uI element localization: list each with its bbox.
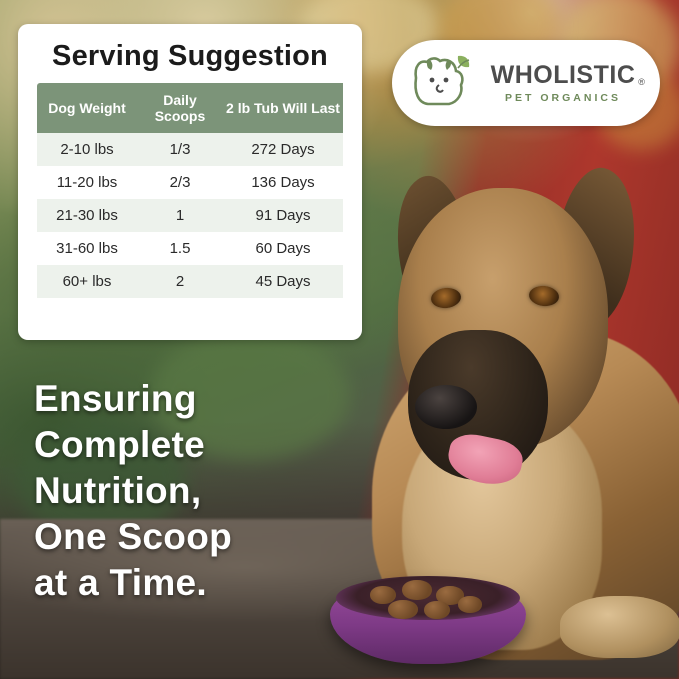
cell-tub-duration: 91 Days xyxy=(223,199,343,232)
dog-nose xyxy=(415,385,477,429)
tagline-line-2: Complete xyxy=(34,422,324,468)
brand-logo-card: WHOLISTIC® PET ORGANICS xyxy=(392,40,660,126)
table-row: 21-30 lbs 1 91 Days xyxy=(37,199,343,232)
column-header-tub-duration: 2 lb Tub Will Last xyxy=(223,83,343,133)
brand-logo-text: WHOLISTIC® PET ORGANICS xyxy=(480,63,646,104)
brand-tagline: PET ORGANICS xyxy=(505,92,621,104)
product-lifestyle-image: Serving Suggestion Dog Weight Daily Scoo… xyxy=(0,0,679,679)
kibble-piece xyxy=(388,600,418,619)
cell-tub-duration: 45 Days xyxy=(223,265,343,298)
tagline-line-5: at a Time. xyxy=(34,560,324,606)
cell-daily-scoops: 1.5 xyxy=(137,232,223,265)
table-row: 2-10 lbs 1/3 272 Days xyxy=(37,133,343,166)
cell-dog-weight: 11-20 lbs xyxy=(37,166,137,199)
dog-paw xyxy=(560,596,679,658)
kibble-piece xyxy=(424,601,450,619)
cell-daily-scoops: 1 xyxy=(137,199,223,232)
card-title: Serving Suggestion xyxy=(18,24,362,83)
tagline-line-4: One Scoop xyxy=(34,514,324,560)
table-row: 11-20 lbs 2/3 136 Days xyxy=(37,166,343,199)
kibble-piece xyxy=(402,580,432,600)
dog-and-cat-with-leaf-logo-icon xyxy=(406,52,472,114)
brand-name-text: WHOLISTIC xyxy=(491,61,636,89)
cell-daily-scoops: 1/3 xyxy=(137,133,223,166)
cell-tub-duration: 272 Days xyxy=(223,133,343,166)
cell-dog-weight: 31-60 lbs xyxy=(37,232,137,265)
table-header-row: Dog Weight Daily Scoops 2 lb Tub Will La… xyxy=(37,83,343,133)
cell-tub-duration: 136 Days xyxy=(223,166,343,199)
tagline-line-1: Ensuring xyxy=(34,376,324,422)
cell-dog-weight: 60+ lbs xyxy=(37,265,137,298)
tagline-line-3: Nutrition, xyxy=(34,468,324,514)
brand-name: WHOLISTIC® xyxy=(491,63,636,88)
table-row: 60+ lbs 2 45 Days xyxy=(37,265,343,298)
table-row: 31-60 lbs 1.5 60 Days xyxy=(37,232,343,265)
cell-dog-weight: 21-30 lbs xyxy=(37,199,137,232)
registered-trademark-symbol: ® xyxy=(638,78,645,87)
serving-suggestion-table: Dog Weight Daily Scoops 2 lb Tub Will La… xyxy=(37,83,343,298)
kibble-piece xyxy=(458,596,482,613)
column-header-dog-weight: Dog Weight xyxy=(37,83,137,133)
serving-suggestion-card: Serving Suggestion Dog Weight Daily Scoo… xyxy=(18,24,362,340)
cell-daily-scoops: 2/3 xyxy=(137,166,223,199)
column-header-daily-scoops: Daily Scoops xyxy=(137,83,223,133)
marketing-tagline: Ensuring Complete Nutrition, One Scoop a… xyxy=(34,376,324,605)
cell-dog-weight: 2-10 lbs xyxy=(37,133,137,166)
cell-tub-duration: 60 Days xyxy=(223,232,343,265)
cell-daily-scoops: 2 xyxy=(137,265,223,298)
